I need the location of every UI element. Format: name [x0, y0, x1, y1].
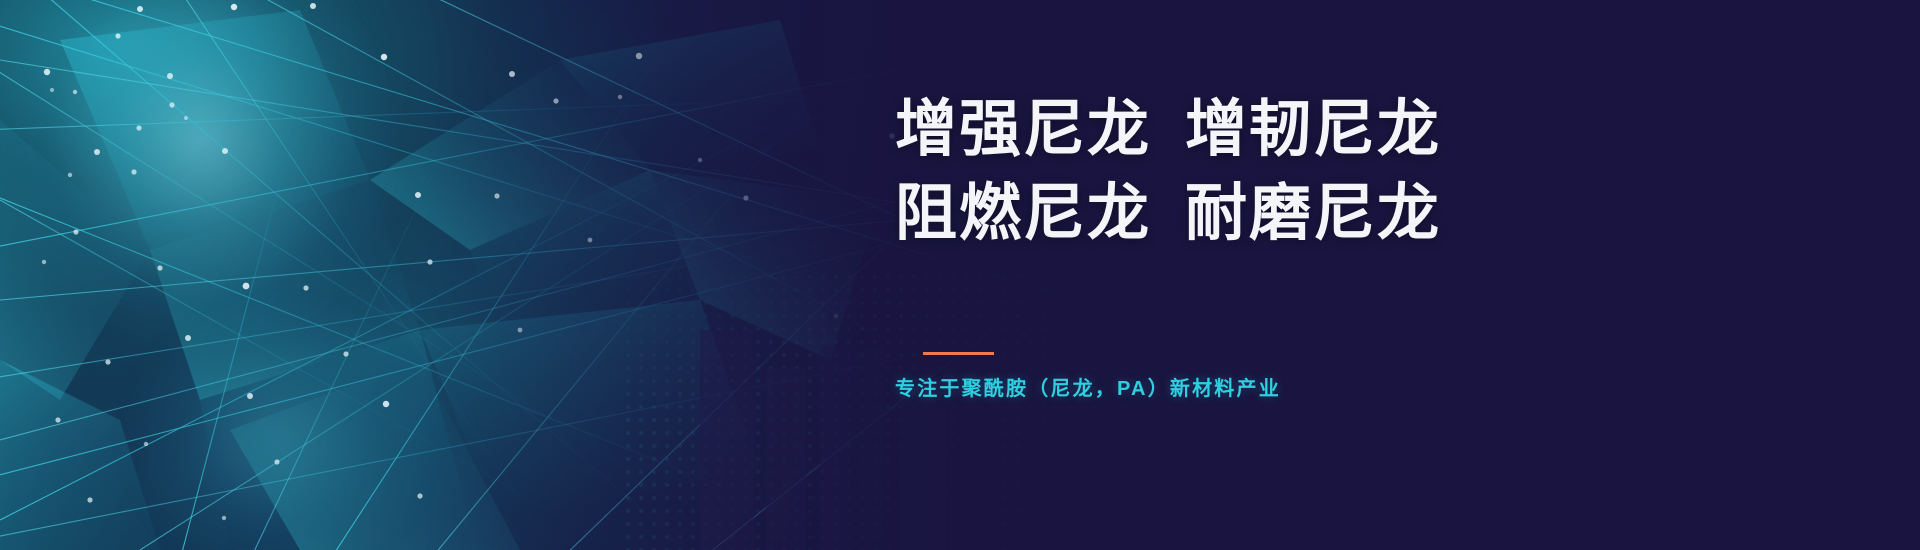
headline-line1-part1: 增强尼龙: [895, 95, 1151, 164]
headline-line-1: 增强尼龙增韧尼龙: [895, 88, 1441, 172]
headline-line1-part2: 增韧尼龙: [1185, 95, 1441, 164]
headline-line-2: 阻燃尼龙耐磨尼龙: [895, 172, 1441, 256]
headline-line2-part1: 阻燃尼龙: [895, 179, 1151, 248]
hero-banner: 增强尼龙增韧尼龙 阻燃尼龙耐磨尼龙 专注于聚酰胺（尼龙，PA）新材料产业: [0, 0, 1920, 550]
banner-content: 增强尼龙增韧尼龙 阻燃尼龙耐磨尼龙 专注于聚酰胺（尼龙，PA）新材料产业: [895, 0, 1595, 550]
headline-line2-part2: 耐磨尼龙: [1185, 179, 1441, 248]
banner-subtitle: 专注于聚酰胺（尼龙，PA）新材料产业: [895, 372, 1281, 401]
orange-rule: [923, 352, 994, 355]
